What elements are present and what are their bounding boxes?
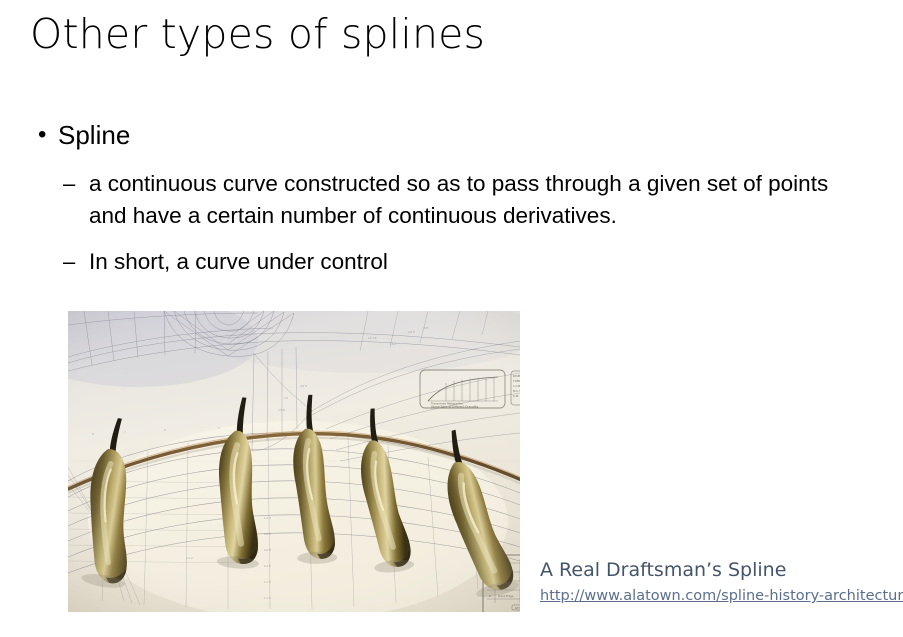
dash-marker-icon: – xyxy=(63,246,89,278)
list-item-label: a continuous curve constructed so as to … xyxy=(89,168,869,232)
source-link-path: spline-history-architecture/ xyxy=(721,588,903,604)
bullet-marker-icon: • xyxy=(30,118,58,152)
slide: Other types of splines • Spline – a cont… xyxy=(0,0,903,637)
spline-photograph: 12.4 ft11.2 9.6 ft8 ft 4.6 ft3.2 2.8 ft … xyxy=(68,311,520,612)
source-link[interactable]: http://www.alatown.com/spline-history-ar… xyxy=(540,587,903,606)
photo-caption: A Real Draftsman’s Spline http://www.ala… xyxy=(540,558,880,606)
list-item-label: In short, a curve under control xyxy=(89,246,388,278)
list-item: – In short, a curve under control xyxy=(30,246,880,278)
source-link-domain: http://www.alatown.com/ xyxy=(540,588,721,604)
page-title: Other types of splines xyxy=(30,8,485,60)
list-item-label: Spline xyxy=(58,118,130,152)
bullet-list: • Spline – a continuous curve constructe… xyxy=(30,118,880,292)
list-item: • Spline xyxy=(30,118,880,152)
list-item: – a continuous curve constructed so as t… xyxy=(30,168,880,232)
caption-title: A Real Draftsman’s Spline xyxy=(540,558,880,583)
dash-marker-icon: – xyxy=(63,168,89,200)
